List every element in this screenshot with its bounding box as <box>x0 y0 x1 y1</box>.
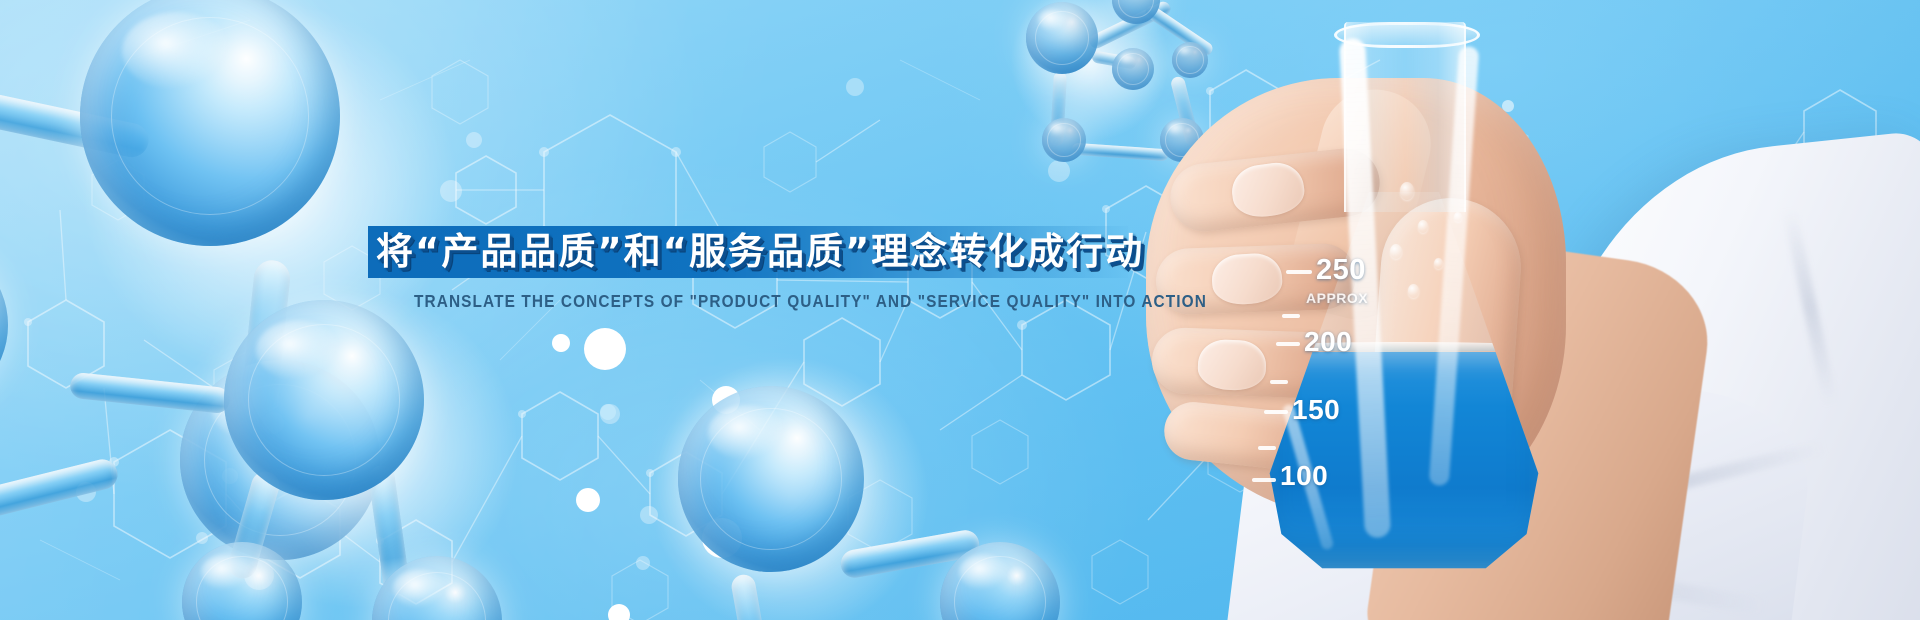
molecule-sphere <box>678 386 864 572</box>
graduation-tick <box>1252 478 1276 482</box>
molecule-bond <box>730 573 774 620</box>
molecule-cluster-center <box>640 356 1060 620</box>
graduation-label-150: 150 <box>1292 394 1340 426</box>
water-droplet <box>1454 212 1462 222</box>
graduation-tick <box>1264 410 1288 414</box>
molecule-sphere <box>182 542 302 620</box>
graduation-tick <box>1270 380 1288 384</box>
molecule-cluster-lower-left <box>140 300 660 620</box>
molecule-sphere <box>1026 2 1098 74</box>
page-title: 将“产品品质”和“服务品质”理念转化成行动 <box>376 227 1144 277</box>
page-subtitle: TRANSLATE THE CONCEPTS OF "PRODUCT QUALI… <box>414 291 1207 312</box>
graduation-tick <box>1258 446 1276 450</box>
graduation-tick <box>1276 342 1300 346</box>
graduation-label-100: 100 <box>1280 460 1328 492</box>
water-droplet <box>1400 182 1414 200</box>
molecule-sphere <box>80 0 340 246</box>
molecule-sphere <box>1042 118 1086 162</box>
hero-banner: 250 APPROX 200 150 100 将“产品品质”和“服务品质”理念转… <box>0 0 1920 620</box>
headline-block: 将“产品品质”和“服务品质”理念转化成行动 TRANSLATE THE CONC… <box>0 226 1920 336</box>
